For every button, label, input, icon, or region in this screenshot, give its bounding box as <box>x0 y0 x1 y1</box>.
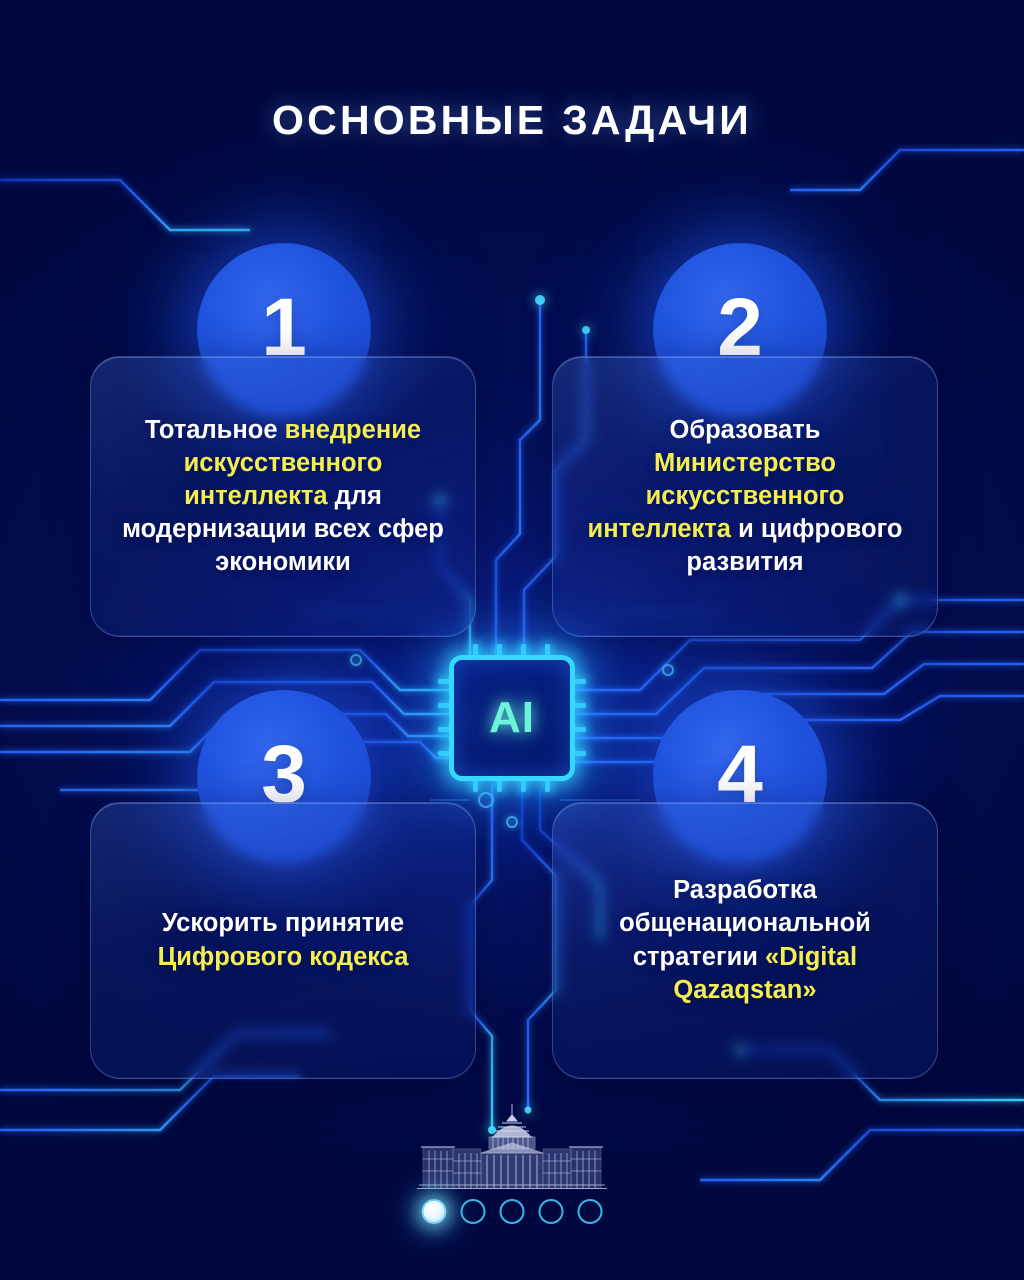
task-card-4[interactable]: Разработка общенациональной стратегии «D… <box>552 802 938 1079</box>
highlighted-phrase: Цифрового кодекса <box>158 943 409 971</box>
task-card-text: Ускорить принятие Цифрового кодекса <box>117 907 449 973</box>
page-title: ОСНОВНЫЕ ЗАДАЧИ <box>0 97 1024 144</box>
plain-phrase: Образовать <box>670 416 821 444</box>
task-card-text: Тотальное внедрение искусственного интел… <box>117 414 449 580</box>
task-card-1[interactable]: Тотальное внедрение искусственного интел… <box>90 356 476 637</box>
chip-label: AI <box>489 693 535 743</box>
task-card-3[interactable]: Ускорить принятие Цифрового кодекса <box>90 802 476 1079</box>
pagination-dot-5[interactable] <box>578 1199 603 1224</box>
pagination-dot-3[interactable] <box>500 1199 525 1224</box>
task-card-text: Разработка общенациональной стратегии «D… <box>579 874 911 1007</box>
akorda-palace-building-icon <box>409 1103 615 1189</box>
ai-chip: AI <box>449 655 575 781</box>
plain-phrase: Ускорить принятие <box>162 909 404 937</box>
pagination-dot-4[interactable] <box>539 1199 564 1224</box>
pagination-dot-1[interactable] <box>422 1199 447 1224</box>
infographic-slide: ОСНОВНЫЕ ЗАДАЧИ 1 2 3 4 Тотальное внедре… <box>0 0 1024 1280</box>
chip-body: AI <box>449 655 575 781</box>
pagination-dot-2[interactable] <box>461 1199 486 1224</box>
task-card-text: Образовать Министерство искусственного и… <box>579 414 911 580</box>
task-card-2[interactable]: Образовать Министерство искусственного и… <box>552 356 938 637</box>
circuit-board-background <box>0 0 1024 1280</box>
plain-phrase: Тотальное <box>145 416 285 444</box>
pagination-dots[interactable] <box>422 1199 603 1224</box>
